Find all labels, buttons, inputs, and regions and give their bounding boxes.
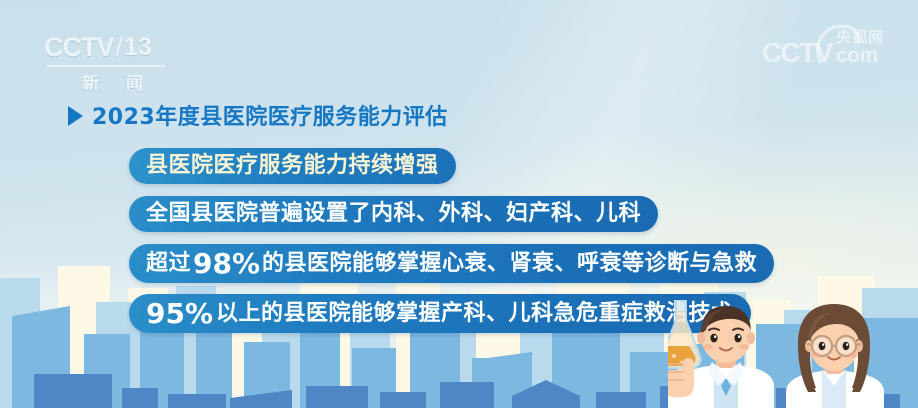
channel-number: 13 — [124, 30, 152, 64]
bullet-pill-3-text: 的县医院能够掌握心衰、肾衰、呼衰等诊断与急救 — [262, 253, 757, 275]
orange-liquid-flask-icon — [668, 300, 701, 368]
bullet-pill-3-prefix: 超过 — [146, 253, 191, 275]
headline: 2023年度县医院医疗服务能力评估 — [68, 99, 448, 131]
watermark-com-text: com — [836, 46, 878, 66]
bullet-pill-4: 95% 以上的县医院能够掌握产科、儿科急危重症救治技术 — [129, 294, 751, 333]
cctv-wordmark: CCTV — [44, 30, 114, 64]
bullet-pill-1: 县医院医疗服务能力持续增强 — [129, 148, 456, 184]
cctv-com-watermark: CCTV 央视网 com — [762, 30, 884, 67]
bullet-pill-4-text: 以上的县医院能够掌握产科、儿科急危重症救治技术 — [216, 303, 734, 325]
watermark-cctv-text: CCTV — [762, 39, 832, 67]
cctv-13-logo-row: CCTV / 13 — [44, 30, 176, 64]
bullet-pill-4-number: 95% — [146, 300, 213, 328]
bullet-pill-3: 超过 98% 的县医院能够掌握心衰、肾衰、呼衰等诊断与急救 — [129, 244, 774, 283]
bullet-pill-1-text: 县医院医疗服务能力持续增强 — [146, 155, 439, 177]
logo-underline — [47, 65, 165, 67]
headline-text: 2023年度县医院医疗服务能力评估 — [92, 99, 448, 131]
channel-name: 新 闻 — [44, 69, 176, 94]
news-graphic-stage: CCTV / 13 新 闻 CCTV 央视网 com 2023年度县医院医疗服务… — [0, 0, 918, 408]
female-doctor-with-glasses — [786, 304, 884, 408]
bullet-pill-2: 全国县医院普遍设置了内科、外科、妇产科、儿科 — [129, 196, 658, 232]
play-triangle-icon — [68, 106, 83, 126]
bullet-pill-3-number: 98% — [193, 250, 260, 278]
cctv-13-logo: CCTV / 13 新 闻 — [44, 30, 176, 92]
watermark-right: 央视网 com — [836, 30, 884, 67]
watermark-left: CCTV — [762, 39, 832, 67]
cctv-logo-slash: / — [116, 32, 124, 63]
bullet-pill-2-text: 全国县医院普遍设置了内科、外科、妇产科、儿科 — [146, 203, 641, 225]
two-doctors-illustration — [668, 300, 918, 408]
